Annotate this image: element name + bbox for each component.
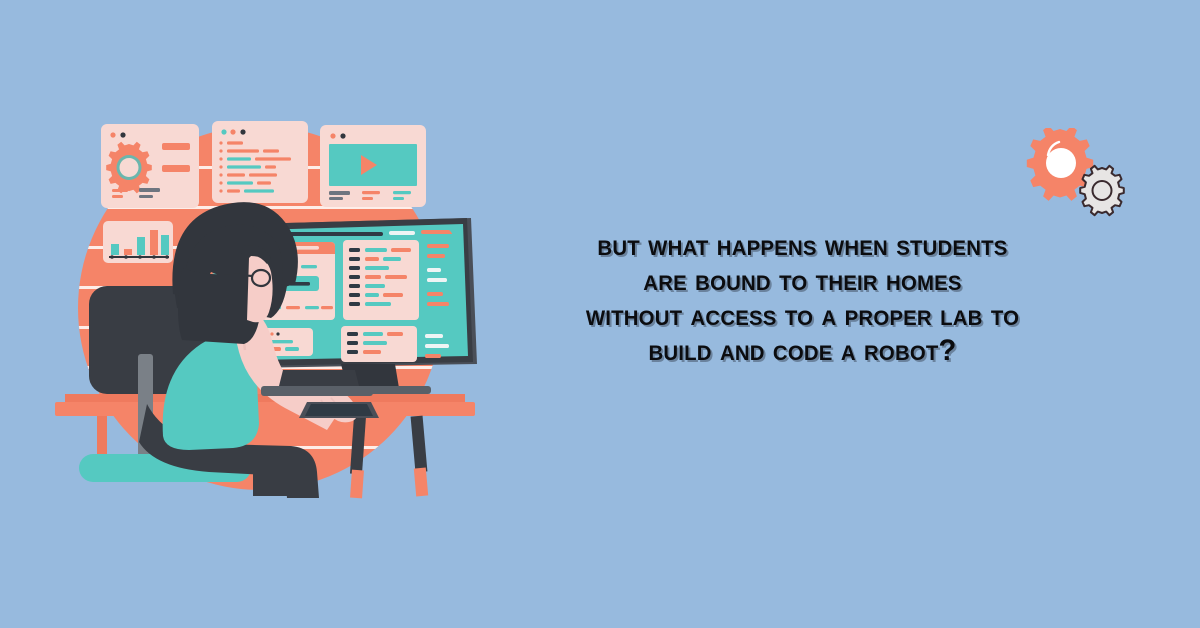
headline-line-2: are bound to their homes: [524, 263, 1082, 298]
floating-window-chart: [103, 221, 173, 263]
small-gear-icon: [1080, 166, 1124, 215]
poster-canvas: But what happens when students are bound…: [0, 0, 1200, 628]
floating-window-settings: [101, 124, 199, 208]
headline-line-4: build and code a robot?: [524, 333, 1082, 368]
headline-text: But what happens when students are bound…: [515, 228, 1090, 368]
gears-decoration: [1022, 128, 1132, 218]
floating-window-video: [320, 125, 426, 207]
headline-line-1: But what happens when students: [524, 228, 1082, 263]
floating-window-code: [212, 121, 308, 203]
workspace-illustration: [55, 118, 485, 508]
headline-line-3: without access to a proper lab to: [524, 298, 1082, 333]
